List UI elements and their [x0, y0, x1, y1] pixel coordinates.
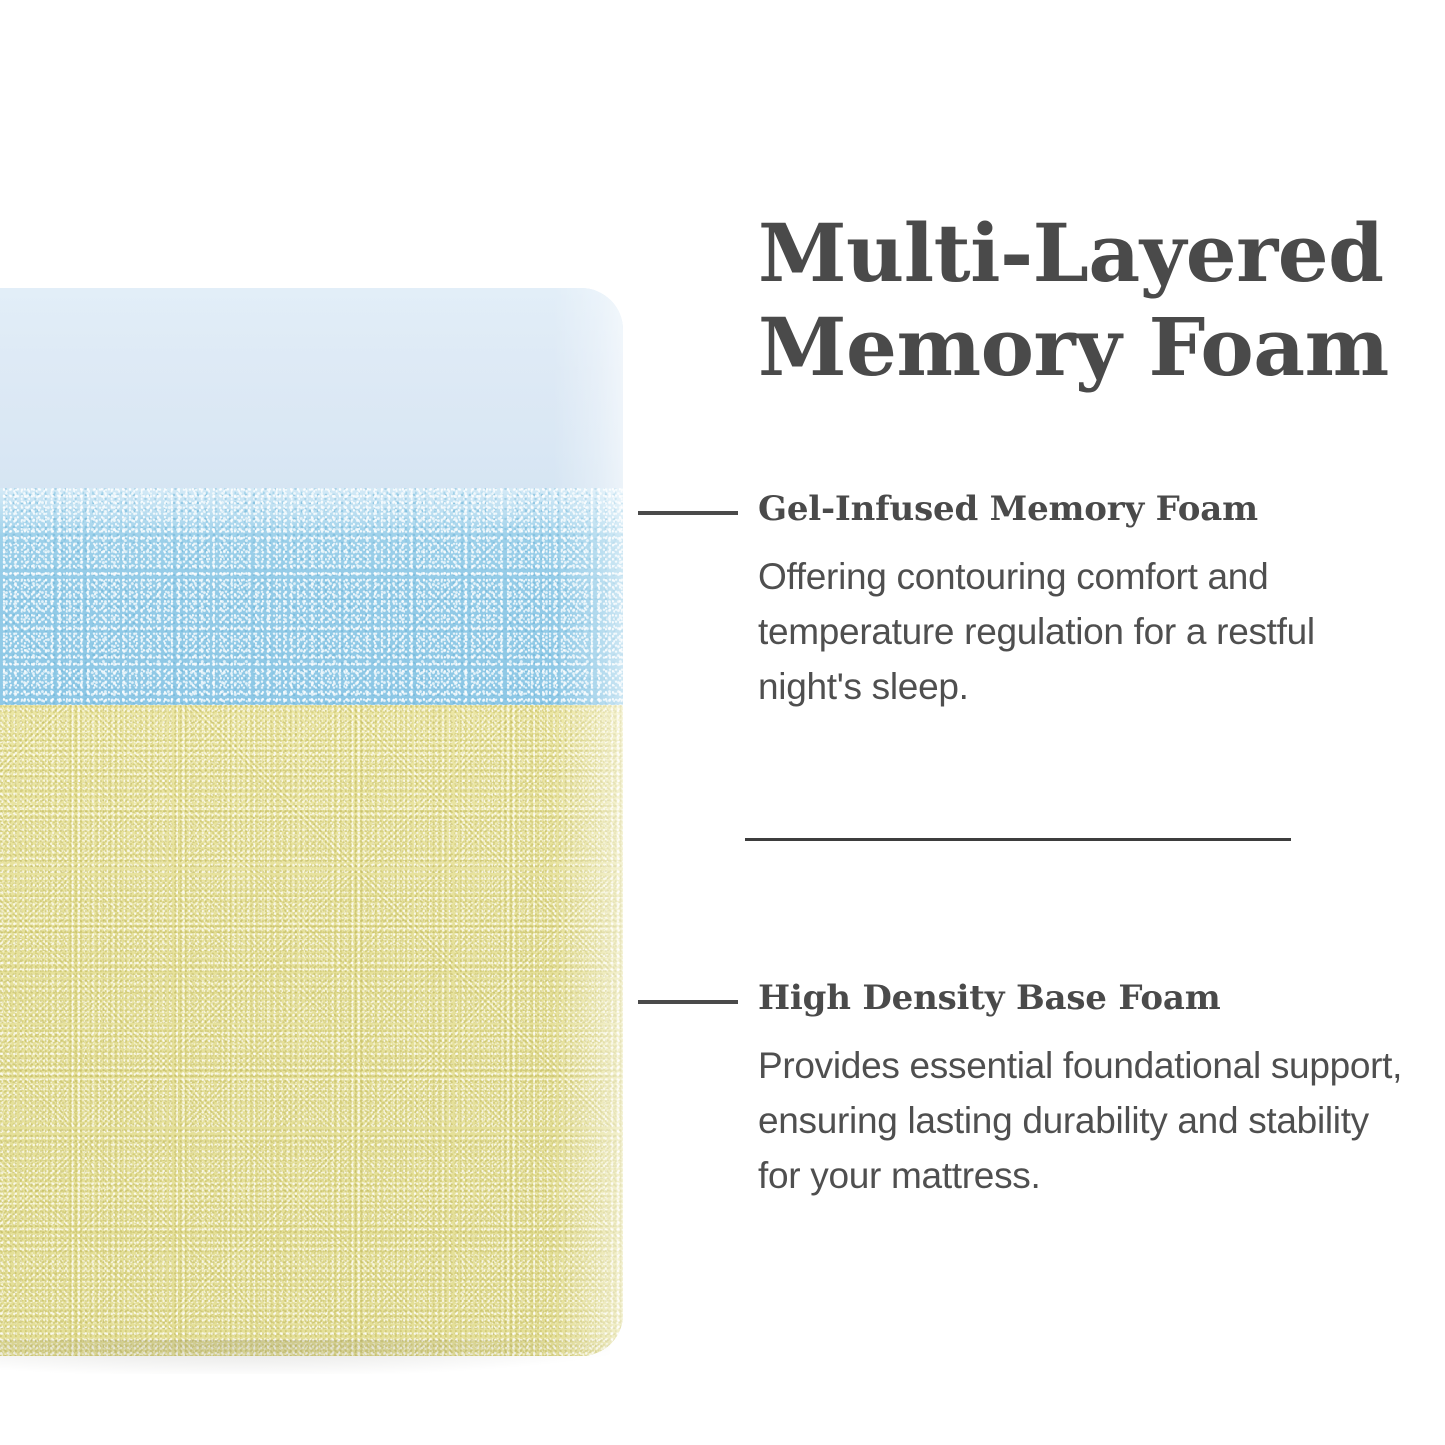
infographic-canvas: Multi-Layered Memory Foam Gel-Infused Me… — [0, 0, 1445, 1445]
section-gel-infused-memory-foam: Gel-Infused Memory Foam Offering contour… — [758, 488, 1418, 751]
section-body-gel-infused: Offering contouring comfort and temperat… — [758, 549, 1413, 714]
section-body-high-density-base: Provides essential foundational support,… — [758, 1038, 1413, 1203]
section-heading-row: Gel-Infused Memory Foam — [758, 488, 1418, 538]
foam-layer-high-density-base — [0, 705, 623, 1356]
foam-block-image — [0, 288, 623, 1356]
section-heading-row: High Density Base Foam — [758, 977, 1418, 1027]
section-divider — [745, 838, 1291, 841]
leader-dash-icon — [638, 511, 738, 515]
content-column: Multi-Layered Memory Foam Gel-Infused Me… — [758, 0, 1418, 1445]
foam-layer-gel-infused — [0, 488, 623, 710]
foam-layer-top-surface — [0, 288, 623, 513]
section-title-gel-infused: Gel-Infused Memory Foam — [758, 488, 1418, 530]
leader-dash-icon — [638, 1000, 738, 1004]
section-title-high-density-base: High Density Base Foam — [758, 977, 1418, 1019]
page-title: Multi-Layered Memory Foam — [758, 206, 1418, 394]
section-high-density-base-foam: High Density Base Foam Provides essentia… — [758, 977, 1418, 1240]
